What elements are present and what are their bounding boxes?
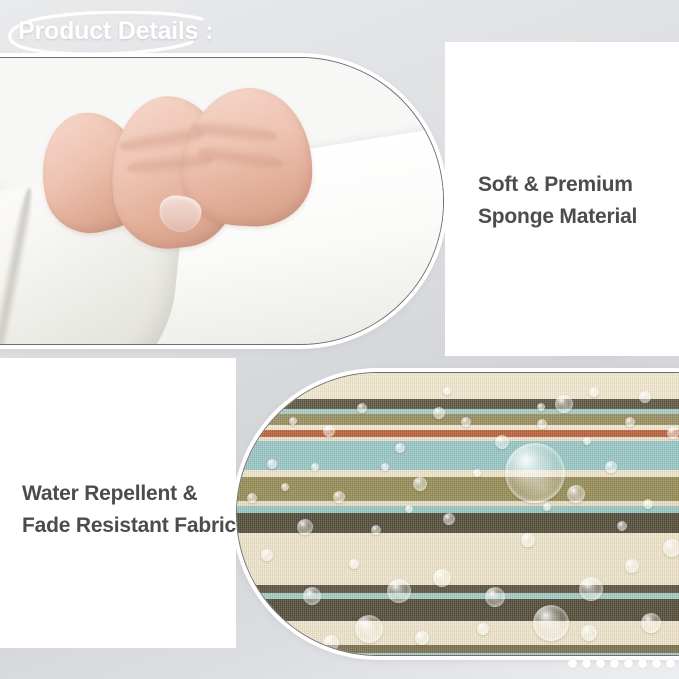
water-droplet [433, 569, 451, 587]
product-details-image: Product Details : Soft & Premium Sponge … [0, 0, 679, 679]
pagination-dot[interactable] [624, 659, 633, 668]
water-droplet [387, 579, 411, 603]
sponge-feature-line-2: Sponge Material [478, 201, 668, 233]
water-droplet [311, 463, 319, 471]
water-droplet [667, 427, 679, 439]
water-droplet [581, 625, 597, 641]
water-droplet [323, 635, 339, 651]
water-droplet [323, 425, 335, 437]
fabric-text-panel: Water Repellent & Fade Resistant Fabric [0, 358, 236, 648]
water-droplet [259, 609, 273, 623]
pagination-dots[interactable] [568, 659, 679, 668]
water-droplet [247, 493, 257, 503]
water-droplet [533, 605, 569, 641]
pagination-dot[interactable] [568, 659, 577, 668]
water-droplet [625, 417, 635, 427]
water-droplet [395, 443, 405, 453]
pagination-dot[interactable] [610, 659, 619, 668]
water-droplet [349, 559, 359, 569]
water-droplet [639, 391, 651, 403]
water-droplet [333, 491, 345, 503]
water-droplet [537, 419, 547, 429]
water-droplet [555, 395, 573, 413]
water-droplet [297, 519, 313, 535]
page-title: Product Details : [18, 17, 213, 46]
water-droplet [485, 587, 505, 607]
water-droplet [443, 513, 455, 525]
water-droplet [381, 463, 389, 471]
water-droplet [243, 573, 253, 583]
water-droplet [663, 539, 679, 557]
sponge-text-panel: Soft & Premium Sponge Material [445, 42, 679, 356]
pagination-dot[interactable] [596, 659, 605, 668]
water-droplet [477, 623, 489, 635]
sponge-feature-line-1: Soft & Premium [478, 169, 668, 201]
fabric-feature-line-1: Water Repellent & [22, 478, 237, 510]
water-droplet [543, 503, 551, 511]
water-droplet [625, 559, 639, 573]
water-droplet [641, 613, 661, 633]
water-droplet [415, 631, 429, 645]
water-droplet [261, 549, 273, 561]
water-droplet [537, 403, 545, 411]
water-droplet [303, 587, 321, 605]
pagination-dot[interactable] [666, 659, 675, 668]
water-droplet [643, 499, 653, 509]
water-droplet [617, 521, 627, 531]
water-droplet [357, 403, 367, 413]
water-droplet [249, 433, 257, 441]
water-droplet [355, 615, 383, 643]
header: Product Details : [0, 0, 300, 62]
fabric-feature-line-2: Fade Resistant Fabric [22, 510, 237, 542]
sponge-photo [0, 58, 443, 344]
water-droplet [567, 485, 585, 503]
fabric-image-capsule [236, 372, 679, 656]
water-droplet [405, 505, 413, 513]
water-droplet [267, 459, 277, 469]
water-droplet [281, 483, 289, 491]
water-droplet [443, 387, 451, 395]
water-droplet [289, 417, 297, 425]
water-droplet [433, 407, 445, 419]
pagination-dot[interactable] [638, 659, 647, 668]
water-droplet [285, 633, 295, 643]
sponge-feature-text: Soft & Premium Sponge Material [478, 169, 668, 233]
water-droplet [495, 435, 509, 449]
water-droplet [473, 469, 481, 477]
water-droplet [521, 533, 535, 547]
water-droplet [589, 387, 599, 397]
water-droplet [505, 443, 565, 503]
pagination-dot[interactable] [652, 659, 661, 668]
water-droplet [579, 577, 603, 601]
fabric-photo [237, 373, 679, 655]
water-droplet [605, 461, 617, 473]
water-droplet [371, 525, 381, 535]
water-droplet [461, 417, 471, 427]
hand [41, 96, 309, 282]
sponge-image-capsule [0, 57, 444, 345]
water-droplet [583, 437, 591, 445]
water-droplet [413, 477, 427, 491]
fabric-feature-text: Water Repellent & Fade Resistant Fabric [22, 478, 237, 542]
pagination-dot[interactable] [582, 659, 591, 668]
